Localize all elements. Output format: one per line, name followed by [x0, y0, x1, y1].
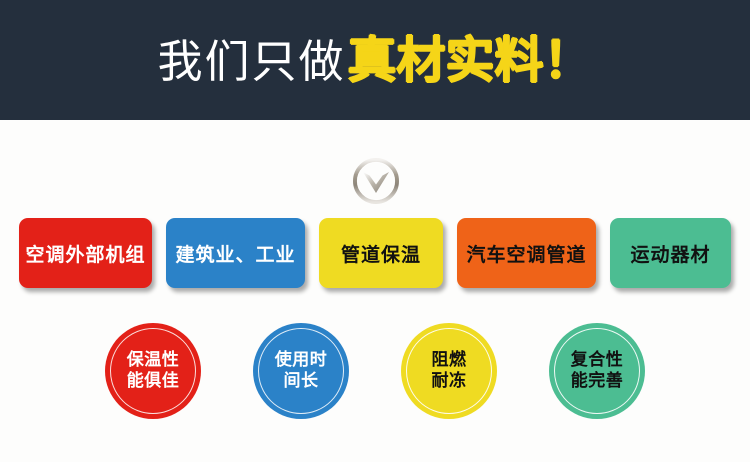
chevron-down-circle-icon: [352, 157, 400, 205]
category-box-label: 管道保温: [341, 240, 421, 267]
promo-banner-page: 我们只做 真材实料！: [0, 0, 750, 462]
category-box-label: 空调外部机组: [26, 240, 146, 267]
feature-circle-label: 使用时 间长: [275, 350, 328, 391]
feature-circle-long-service-life[interactable]: 使用时 间长: [253, 323, 349, 419]
category-box-label: 汽车空调管道: [466, 240, 586, 267]
category-box-automotive-ac-pipe[interactable]: 汽车空调管道: [457, 218, 596, 288]
feature-circle-row: 保温性 能俱佳 使用时 间长 阻燃 耐冻 复合性 能完善: [105, 322, 645, 420]
header-banner: 我们只做 真材实料！: [0, 0, 750, 120]
category-box-air-conditioner-outdoor-unit[interactable]: 空调外部机组: [19, 218, 152, 288]
banner-title-light: 我们只做: [157, 39, 345, 84]
banner-title: 我们只做 真材实料！: [157, 36, 592, 85]
feature-circle-insulation-performance[interactable]: 保温性 能俱佳: [105, 323, 201, 419]
feature-circle-flame-retardant-freeze-resistant[interactable]: 阻燃 耐冻: [401, 323, 497, 419]
feature-circle-label: 复合性 能完善: [571, 350, 624, 391]
category-box-row: 空调外部机组 建筑业、工业 管道保温 汽车空调管道 运动器材: [19, 218, 731, 288]
feature-circle-label: 阻燃 耐冻: [432, 350, 467, 391]
category-box-construction-industry[interactable]: 建筑业、工业: [166, 218, 305, 288]
feature-circle-label: 保温性 能俱佳: [127, 350, 180, 391]
category-box-sports-equipment[interactable]: 运动器材: [610, 218, 731, 288]
category-box-label: 建筑业、工业: [175, 240, 295, 267]
category-box-pipe-insulation[interactable]: 管道保温: [319, 218, 443, 288]
feature-circle-composite-performance[interactable]: 复合性 能完善: [549, 323, 645, 419]
category-box-label: 运动器材: [630, 240, 710, 267]
banner-title-strong: 真材实料！: [348, 36, 593, 85]
